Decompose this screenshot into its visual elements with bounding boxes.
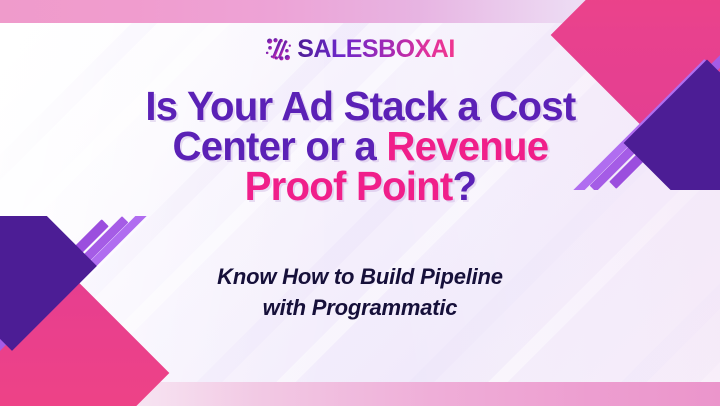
- salesboxai-percent-mark-icon: [265, 36, 292, 63]
- page-title: Is Your Ad Stack a Cost Center or a Reve…: [145, 86, 575, 206]
- headline-line-3-question-mark: ?: [452, 163, 476, 209]
- slide-content: SALESBOXAI Is Your Ad Stack a Cost Cente…: [0, 0, 720, 406]
- page-subtitle: Know How to Build Pipeline with Programm…: [217, 261, 503, 323]
- headline-line-3-pink: Proof Point: [244, 163, 452, 209]
- subtitle-line-2: with Programmatic: [263, 295, 458, 320]
- salesboxai-logo: SALESBOXAI: [265, 34, 455, 64]
- presentation-slide: SALESBOXAI Is Your Ad Stack a Cost Cente…: [0, 0, 720, 406]
- subtitle-line-1: Know How to Build Pipeline: [217, 264, 503, 289]
- logo-wordmark: SALESBOXAI: [297, 37, 455, 62]
